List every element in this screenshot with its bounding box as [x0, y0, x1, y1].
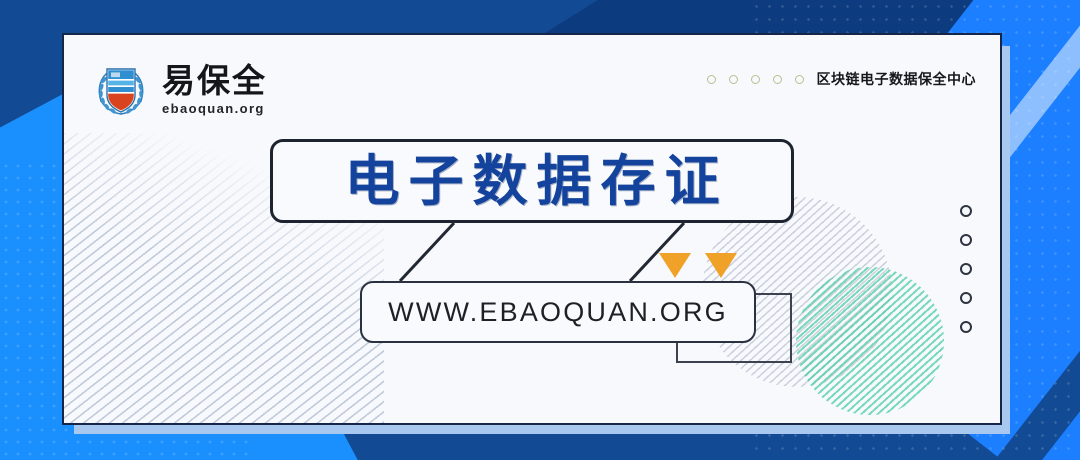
circle-outline-icon: [960, 321, 972, 333]
brand-name-cn: 易保全: [162, 64, 267, 97]
triangle-down-icon: [705, 253, 737, 278]
circle-outline-icon: [960, 263, 972, 275]
brand-logo[interactable]: 易保全 ebaoquan.org: [90, 59, 267, 119]
main-title-box: 电子数据存证: [270, 139, 794, 223]
header-dot-group: [707, 75, 804, 84]
header-right-group: 区块链电子数据保全中心: [707, 69, 977, 89]
page-title: 电子数据存证: [335, 154, 728, 209]
shield-laurel-logo-icon: [90, 59, 152, 119]
content-card: 易保全 ebaoquan.org 区块链电子数据保全中心 电子数据存证: [62, 33, 1002, 425]
mint-hatched-circle: [796, 267, 944, 415]
brand-name-en: ebaoquan.org: [162, 102, 267, 115]
triangle-down-icon: [659, 253, 691, 278]
circle-outline-icon: [960, 205, 972, 217]
side-dot-column: [960, 205, 972, 333]
poster-canvas: 易保全 ebaoquan.org 区块链电子数据保全中心 电子数据存证: [0, 0, 1080, 460]
small-circle-icon: [751, 75, 760, 84]
circle-outline-icon: [960, 292, 972, 304]
website-url: WWW.EBAOQUAN.ORG: [388, 297, 728, 328]
brand-logo-text: 易保全 ebaoquan.org: [162, 64, 267, 115]
small-circle-icon: [707, 75, 716, 84]
header-subtitle: 区块链电子数据保全中心: [817, 69, 977, 89]
small-circle-icon: [773, 75, 782, 84]
url-box[interactable]: WWW.EBAOQUAN.ORG: [360, 281, 756, 343]
circle-outline-icon: [960, 234, 972, 246]
small-circle-icon: [729, 75, 738, 84]
triangle-group: [659, 253, 737, 278]
small-circle-icon: [795, 75, 804, 84]
